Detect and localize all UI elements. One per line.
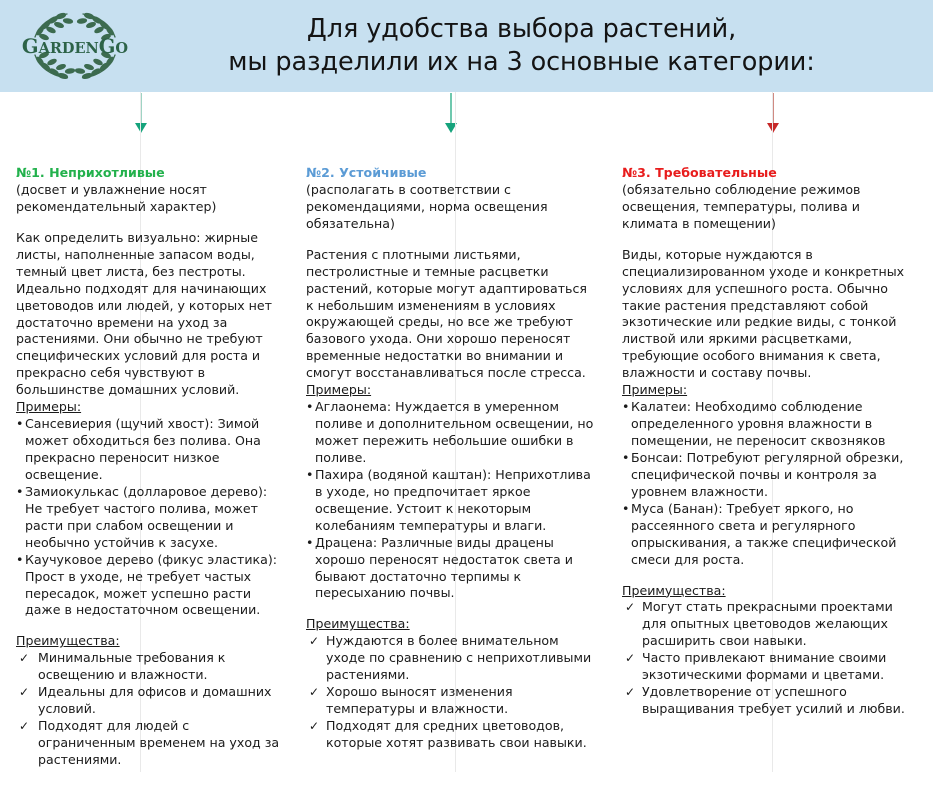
column-3-body: Виды, которые нуждаются в специализирова…	[622, 247, 919, 383]
column-2-advantages-label: Преимущества:	[306, 616, 596, 633]
list-item: Муса (Банан): Требует яркого, но рассеян…	[622, 501, 919, 569]
list-item: Подходят для людей с ограниченным времен…	[16, 718, 286, 769]
category-column-demanding: №3. Требовательные (обязательно соблюден…	[610, 92, 933, 800]
category-columns: №1. Неприхотливые (досвет и увлажнение н…	[0, 92, 933, 800]
column-1-advantages-label: Преимущества:	[16, 633, 286, 650]
column-2-examples-label: Примеры:	[306, 382, 596, 399]
column-2-heading: №2. Устойчивые	[306, 165, 596, 181]
column-2-subtitle: (располагать в соответствии с рекомендац…	[306, 182, 596, 233]
column-1-body: Как определить визуально: жирные листы, …	[16, 230, 286, 399]
list-item: Подходят для средних цветоводов, которые…	[306, 718, 596, 752]
brand-logo-text: GARDENGO	[22, 35, 129, 58]
laurel-wreath-icon: GARDENGO	[9, 3, 141, 89]
spacer	[306, 602, 596, 616]
category-column-resilient: №2. Устойчивые (располагать в соответств…	[300, 92, 610, 800]
column-2-examples-list: Аглаонема: Нуждается в умеренном поливе …	[306, 399, 596, 602]
list-item: Аглаонема: Нуждается в умеренном поливе …	[306, 399, 596, 467]
column-2-advantages-list: Нуждаются в более внимательном уходе по …	[306, 633, 596, 752]
column-1-examples-list: Сансевиерия (щучий хвост): Зимой может о…	[16, 416, 286, 619]
column-3-subtitle: (обязательно соблюдение режимов освещени…	[622, 182, 919, 233]
list-item: Драцена: Различные виды драцены хорошо п…	[306, 535, 596, 603]
column-3-advantages-label: Преимущества:	[622, 583, 919, 600]
list-item: Пахира (водяной каштан): Неприхотлива в …	[306, 467, 596, 535]
page-title-line-1: Для удобства выбора растений,	[150, 13, 893, 46]
list-item: Удовлетворение от успешного выращивания …	[622, 684, 919, 718]
column-1-subtitle: (досвет и увлажнение носят рекомендатель…	[16, 182, 286, 216]
list-item: Сансевиерия (щучий хвост): Зимой может о…	[16, 416, 286, 484]
column-1-heading: №1. Неприхотливые	[16, 165, 286, 181]
column-2-body: Растения с плотными листьями, пестролист…	[306, 247, 596, 383]
list-item: Бонсаи: Потребуют регулярной обрезки, сп…	[622, 450, 919, 501]
spacer	[16, 619, 286, 633]
list-item: Каучуковое дерево (фикус эластика): Прос…	[16, 552, 286, 620]
list-item: Часто привлекают внимание своими экзотич…	[622, 650, 919, 684]
list-item: Хорошо выносят изменения температуры и в…	[306, 684, 596, 718]
list-item: Идеальны для офисов и домашних условий.	[16, 684, 286, 718]
column-3-examples-label: Примеры:	[622, 382, 919, 399]
page-title-line-2: мы разделили их на 3 основные категории:	[150, 46, 893, 79]
category-column-easy: №1. Неприхотливые (досвет и увлажнение н…	[0, 92, 300, 800]
column-1-examples-label: Примеры:	[16, 399, 286, 416]
list-item: Минимальные требования к освещению и вла…	[16, 650, 286, 684]
column-3-heading: №3. Требовательные	[622, 165, 919, 181]
list-item: Нуждаются в более внимательном уходе по …	[306, 633, 596, 684]
list-item: Калатеи: Необходимо соблюдение определен…	[622, 399, 919, 450]
column-3-advantages-list: Могут стать прекрасными проектами для оп…	[622, 599, 919, 718]
header-banner: GARDENGO Для удобства выбора растений, м…	[0, 0, 933, 92]
list-item: Могут стать прекрасными проектами для оп…	[622, 599, 919, 650]
list-item: Замиокулькас (долларовое дерево): Не тре…	[16, 484, 286, 552]
brand-logo[interactable]: GARDENGO	[0, 0, 150, 92]
spacer	[622, 569, 919, 583]
column-3-examples-list: Калатеи: Необходимо соблюдение определен…	[622, 399, 919, 568]
column-1-advantages-list: Минимальные требования к освещению и вла…	[16, 650, 286, 769]
page-title: Для удобства выбора растений, мы раздели…	[150, 13, 933, 79]
